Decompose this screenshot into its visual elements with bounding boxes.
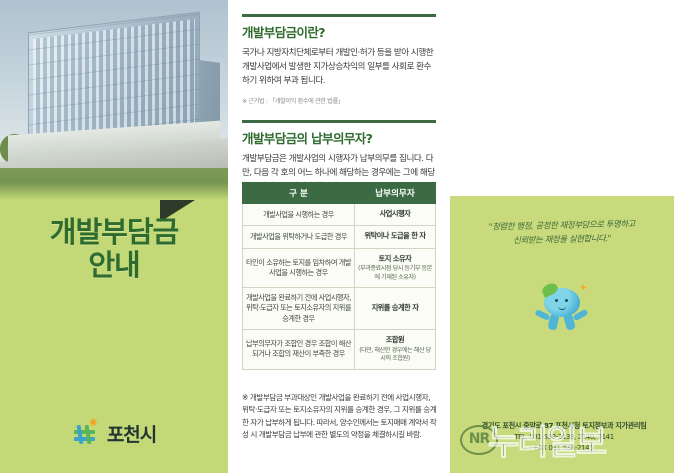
- section-reference: ※ 근거법 : 「개발이익 환수에 관한 법률」: [242, 96, 436, 105]
- star-icon: ✷: [88, 417, 99, 430]
- cell-payer: 사업시행자: [354, 204, 435, 226]
- table-row: 개발사업을 시행하는 경우 사업시행자: [243, 204, 436, 226]
- table-row: 납부의무자가 조합인 경우 조합이 해산되거나 조합의 재산이 부족한 경우 조…: [243, 330, 436, 369]
- section-heading: 개발부담금이란?: [242, 22, 436, 41]
- table-row: 타인이 소유하는 토지를 임차하여 개발사업을 시행하는 경우 토지 소유자 (…: [243, 248, 436, 287]
- cell-payer-note: (부과종료시점 당시 등기부 등본에 기재된 소유자): [358, 265, 432, 282]
- cell-division: 개발사업을 완료하기 전에 사업시행자, 위탁·도급자 또는 토지소유자의 지위…: [243, 288, 355, 330]
- cell-payer-main: 토지 소유자: [379, 254, 412, 263]
- cell-payer: 조합원 (다만, 해산한 경우에는 해산 당시의 조합원): [354, 330, 435, 369]
- contact-tel-value: 031-538-2139, 2140, 2141: [529, 433, 614, 441]
- cell-payer: 위탁이나 도급을 한 자: [354, 226, 435, 248]
- cell-payer-note: (다만, 해산한 경우에는 해산 당시의 조합원): [358, 347, 432, 364]
- cell-payer-main: 지위를 승계한 자: [372, 303, 419, 312]
- sparkle-icon: ✦: [579, 284, 587, 294]
- photo-fade-overlay: [0, 182, 228, 200]
- cell-division: 개발사업을 위탁하거나 도급한 경우: [243, 226, 355, 248]
- column-header-payer: 납부의무자: [354, 183, 435, 204]
- contact-info: 경기도 포천시 중앙로 87 포천시청 토지정보과 지가관리팀 TEL. 031…: [460, 420, 668, 455]
- contact-tel-label: TEL.: [514, 433, 527, 441]
- cover-title-line1: 개발부담금: [50, 215, 178, 249]
- cover-panel: 개발부담금 안내 ✷ 포천시: [0, 0, 228, 473]
- cell-division: 타인이 소유하는 토지를 임차하여 개발사업을 시행하는 경우: [243, 248, 355, 287]
- footnote-mark: ※: [242, 393, 248, 402]
- section-body: 국가나 지방자치단체로부터 개발인·허가 등을 받아 시행한 개발사업에서 발생…: [242, 47, 436, 89]
- contact-address: 경기도 포천시 중앙로 87 포천시청 토지정보과 지가관리팀: [460, 420, 668, 432]
- mascot-icon: ✦: [535, 282, 589, 334]
- contact-fax-value: 031-538-2145: [548, 444, 593, 452]
- table-row: 개발사업을 위탁하거나 도급한 경우 위탁이나 도급을 한 자: [243, 226, 436, 248]
- cell-payer-main: 조합원: [386, 335, 404, 344]
- back-panel-green-area: "청렴한 행정, 공정한 재정부담으로 투명하고 신뢰받는 재정을 실현합니다.…: [450, 196, 674, 473]
- section-heading: 개발부담금의 납부의무자?: [242, 128, 436, 147]
- cell-payer-main: 위탁이나 도급을 한 자: [364, 231, 425, 240]
- footnote-text: 개발부담금 부과대상인 개발사업을 완료하기 전에 사업시행자, 위탁·도급자 …: [242, 393, 436, 439]
- section-what-is: 개발부담금이란? 국가나 지방자치단체로부터 개발인·허가 등을 받아 시행한 …: [242, 14, 436, 105]
- column-header-division: 구 분: [243, 183, 355, 204]
- payer-table: 구 분 납부의무자 개발사업을 시행하는 경우 사업시행자 개발사업을 위탁하거…: [242, 182, 436, 370]
- content-panel: 개발부담금이란? 국가나 지방자치단체로부터 개발인·허가 등을 받아 시행한 …: [228, 0, 450, 473]
- cover-title: 개발부담금 안내: [0, 216, 228, 282]
- city-hall-photo: [0, 0, 228, 200]
- cell-payer: 지위를 승계한 자: [354, 288, 435, 330]
- footnote: ※개발부담금 부과대상인 개발사업을 완료하기 전에 사업시행자, 위탁·도급자…: [242, 392, 438, 441]
- slogan: "청렴한 행정, 공정한 재정부담으로 투명하고 신뢰받는 재정을 실현합니다.…: [462, 216, 663, 249]
- section-divider: [242, 120, 436, 123]
- city-logo-label: 포천시: [107, 420, 156, 447]
- back-panel: "청렴한 행정, 공정한 재정부담으로 투명하고 신뢰받는 재정을 실현합니다.…: [450, 0, 674, 473]
- table-row: 개발사업을 완료하기 전에 사업시행자, 위탁·도급자 또는 토지소유자의 지위…: [243, 288, 436, 330]
- table-body: 개발사업을 시행하는 경우 사업시행자 개발사업을 위탁하거나 도급한 경우 위…: [243, 204, 436, 370]
- contact-tel-line: TEL. 031-538-2139, 2140, 2141: [460, 432, 668, 444]
- hash-mark-icon: ✷: [72, 422, 98, 446]
- contact-fax-label: FAX: [535, 444, 547, 452]
- table-header-row: 구 분 납부의무자: [243, 183, 436, 204]
- contact-fax-line: FAX 031-538-2145: [460, 443, 668, 455]
- cell-payer-main: 사업시행자: [380, 209, 411, 218]
- cover-title-line2: 안내: [0, 249, 228, 282]
- cell-division: 개발사업을 시행하는 경우: [243, 204, 355, 226]
- section-divider: [242, 14, 436, 17]
- cell-payer: 토지 소유자 (부과종료시점 당시 등기부 등본에 기재된 소유자): [354, 248, 435, 287]
- city-logo: ✷ 포천시: [0, 420, 228, 447]
- cell-division: 납부의무자가 조합인 경우 조합이 해산되거나 조합의 재산이 부족한 경우: [243, 330, 355, 369]
